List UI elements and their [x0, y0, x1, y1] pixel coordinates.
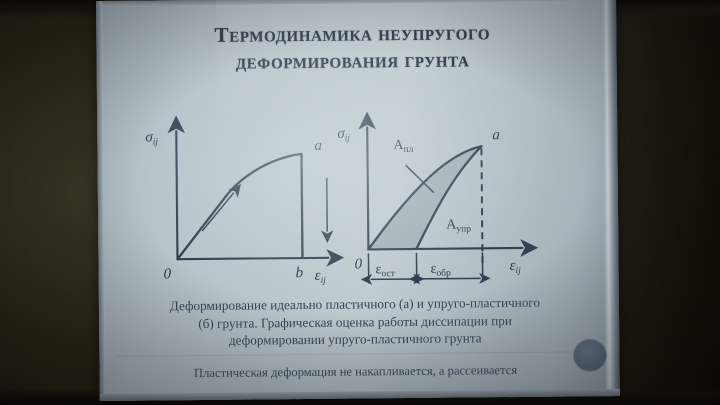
- y-axis-left: [176, 131, 177, 259]
- slide-caption: Деформирование идеально пластичного (а) …: [119, 293, 591, 350]
- chart-ideal-plastic: σij εij 0 a b: [105, 108, 357, 300]
- slide-divider: [115, 351, 595, 357]
- slide-title-line-2: деформирования грунта: [102, 45, 602, 77]
- chart-elastic-plastic: σij εij 0 a Aпл Aупр εост εобр: [353, 105, 605, 297]
- plastic-area-label: Aпл: [393, 138, 413, 155]
- charts-row: σij εij 0 a b: [103, 105, 605, 300]
- y-axis-right: [367, 127, 368, 249]
- slide-footnote: Пластическая деформация не накапливается…: [120, 361, 592, 382]
- chart-right-svg: σij εij 0 a Aпл Aупр εост εобр: [353, 105, 605, 297]
- peak-label-a-left: a: [314, 138, 322, 154]
- screenshot-root: Термодинамика неупругого деформирования …: [0, 0, 720, 405]
- loading-curve-left: [176, 154, 302, 259]
- chart-left-svg: σij εij 0 a b: [105, 108, 357, 300]
- x-axis-left: [177, 258, 328, 259]
- loading-direction-arrow-icon: [202, 193, 234, 231]
- projector-screen: Термодинамика неупругого деформирования …: [96, 0, 620, 401]
- origin-label-left: 0: [164, 266, 172, 282]
- y-axis-label-left: σij: [145, 129, 158, 147]
- unloading-drop-left: [301, 154, 302, 258]
- x-axis-label-right: εij: [509, 258, 521, 276]
- tick-label-b-left: b: [296, 265, 304, 281]
- elastic-area-label: Aупр: [446, 217, 471, 234]
- x-axis-right: [368, 248, 522, 249]
- slide-title: Термодинамика неупругого деформирования …: [102, 18, 602, 77]
- caption-line-3: деформировании упруго-пластичного грунта: [119, 328, 591, 350]
- dim-label-residual-strain: εост: [376, 262, 396, 279]
- screen-artifact-blob: [573, 339, 606, 371]
- origin-label-right: 0: [354, 256, 362, 272]
- presentation-slide: Термодинамика неупругого деформирования …: [102, 1, 606, 394]
- room-wall-right: [612, 0, 720, 405]
- dim-label-reversible-strain: εобр: [431, 262, 452, 279]
- unloading-direction-arrow-icon: [327, 178, 328, 232]
- x-axis-label-left: εij: [315, 268, 327, 286]
- peak-dashed-guide-right: [481, 148, 482, 266]
- peak-label-a-right: a: [492, 127, 500, 143]
